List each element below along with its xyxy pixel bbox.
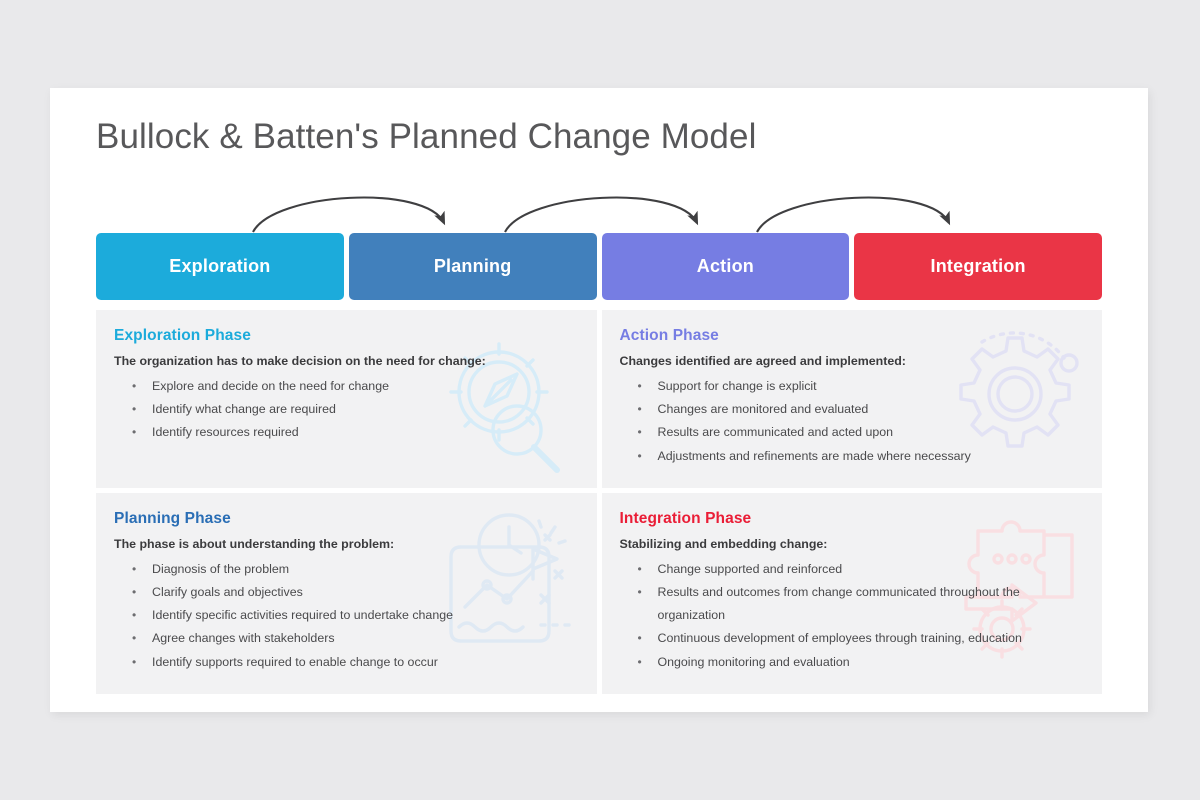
phase-label: Exploration: [169, 256, 270, 277]
panel-heading: Action Phase: [620, 327, 1083, 345]
phase-box-action[interactable]: Action: [602, 233, 850, 300]
phase-box-integration[interactable]: Integration: [854, 233, 1102, 300]
panel-grid: Exploration Phase The organization has t…: [96, 310, 1102, 694]
panel-heading: Planning Phase: [114, 510, 577, 528]
list-item: Support for change is explicit: [620, 375, 1083, 398]
list-item: Continuous development of employees thro…: [620, 627, 1083, 650]
panel-action: Action Phase Changes identified are agre…: [602, 310, 1103, 488]
curved-arrow: [253, 198, 444, 232]
panel-subtitle: Changes identified are agreed and implem…: [620, 354, 1083, 368]
curved-arrow: [757, 198, 949, 232]
panel-integration: Integration Phase Stabilizing and embedd…: [602, 493, 1103, 694]
list-item: Changes are monitored and evaluated: [620, 398, 1083, 421]
list-item: Results are communicated and acted upon: [620, 421, 1083, 444]
panel-bullet-list: Explore and decide on the need for chang…: [114, 375, 577, 445]
panel-planning: Planning Phase The phase is about unders…: [96, 493, 597, 694]
phase-bar: Exploration Planning Action Integration: [96, 233, 1102, 300]
arrow-layer: [96, 168, 1102, 238]
list-item: Identify supports required to enable cha…: [114, 651, 577, 674]
list-item: Identify specific activities required to…: [114, 604, 577, 627]
phase-label: Integration: [931, 256, 1026, 277]
panel-bullet-list: Diagnosis of the problem Clarify goals a…: [114, 558, 577, 674]
page-title: Bullock & Batten's Planned Change Model: [96, 117, 756, 157]
phase-box-exploration[interactable]: Exploration: [96, 233, 344, 300]
panel-subtitle: The organization has to make decision on…: [114, 354, 577, 368]
slide-canvas: Bullock & Batten's Planned Change Model …: [50, 88, 1148, 712]
curved-arrow: [505, 198, 697, 232]
panel-heading: Integration Phase: [620, 510, 1083, 528]
list-item: Agree changes with stakeholders: [114, 627, 577, 650]
panel-subtitle: Stabilizing and embedding change:: [620, 537, 1083, 551]
list-item: Identify resources required: [114, 421, 577, 444]
list-item: Ongoing monitoring and evaluation: [620, 651, 1083, 674]
list-item: Change supported and reinforced: [620, 558, 1083, 581]
list-item: Explore and decide on the need for chang…: [114, 375, 577, 398]
panel-bullet-list: Change supported and reinforced Results …: [620, 558, 1083, 674]
panel-bullet-list: Support for change is explicit Changes a…: [620, 375, 1083, 468]
arrow-group: [253, 198, 949, 232]
panel-subtitle: The phase is about understanding the pro…: [114, 537, 577, 551]
phase-label: Action: [697, 256, 754, 277]
panel-exploration: Exploration Phase The organization has t…: [96, 310, 597, 488]
list-item: Results and outcomes from change communi…: [620, 581, 1083, 627]
panel-heading: Exploration Phase: [114, 327, 577, 345]
list-item: Adjustments and refinements are made whe…: [620, 445, 1083, 468]
list-item: Diagnosis of the problem: [114, 558, 577, 581]
list-item: Identify what change are required: [114, 398, 577, 421]
phase-box-planning[interactable]: Planning: [349, 233, 597, 300]
phase-label: Planning: [434, 256, 512, 277]
list-item: Clarify goals and objectives: [114, 581, 577, 604]
